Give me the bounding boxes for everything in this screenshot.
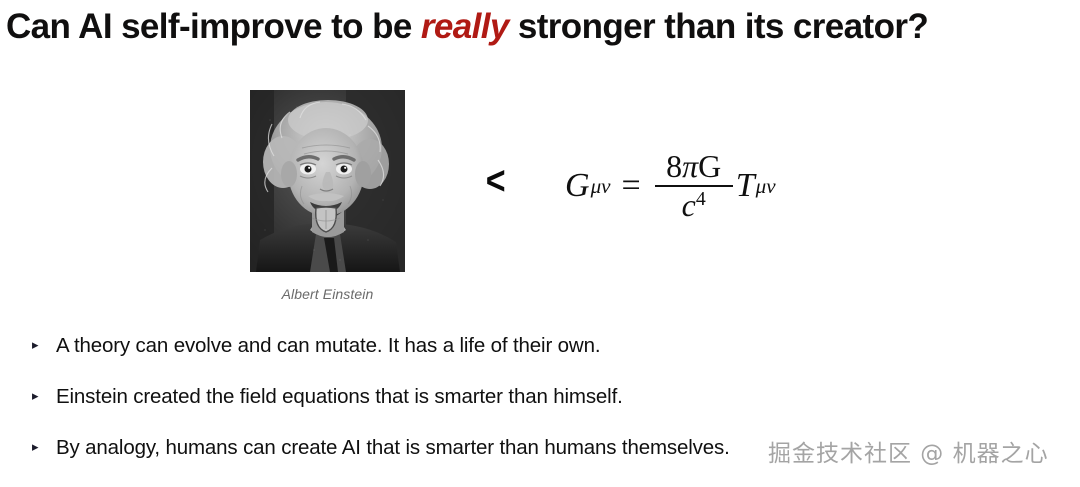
- equation-denominator: c4: [677, 187, 711, 223]
- equation-denominator-exponent: 4: [696, 189, 706, 210]
- less-than-symbol: <: [486, 158, 506, 204]
- einstein-portrait-image: [250, 90, 405, 272]
- equation-numerator: 8πG: [661, 150, 726, 185]
- equation-denominator-symbol: c: [682, 188, 696, 223]
- list-item: ▸ A theory can evolve and can mutate. It…: [32, 334, 1032, 385]
- equation-fraction: 8πG c4: [655, 150, 733, 222]
- list-item-text: A theory can evolve and can mutate. It h…: [56, 334, 600, 358]
- einstein-figure: Albert Einstein: [250, 90, 405, 302]
- page-title: Can AI self-improve to be really stronge…: [6, 4, 1076, 50]
- equation-left-subscript: μν: [591, 174, 611, 199]
- equation-left-symbol: G: [565, 167, 590, 205]
- list-item: ▸ Einstein created the field equations t…: [32, 385, 1032, 436]
- equation-numerator-constant: G: [698, 149, 721, 184]
- watermark: 掘金技术社区 @ 机器之心: [768, 434, 1049, 468]
- list-item-text: By analogy, humans can create AI that is…: [56, 436, 730, 460]
- page-title-part-2: stronger than its creator?: [509, 7, 928, 46]
- list-item-text: Einstein created the field equations tha…: [56, 385, 623, 409]
- equation-right-subscript: μν: [756, 174, 776, 199]
- equation-numerator-coefficient: 8: [666, 149, 682, 184]
- page-title-part-1: Can AI self-improve to be: [6, 7, 421, 46]
- einstein-field-equation: Gμν = 8πG c4 Tμν: [565, 150, 776, 222]
- triangle-bullet-icon: ▸: [32, 389, 56, 402]
- page-title-emphasis: really: [421, 7, 509, 46]
- triangle-bullet-icon: ▸: [32, 440, 56, 453]
- equation-numerator-pi: π: [682, 149, 698, 184]
- equation-right-symbol: T: [736, 167, 755, 205]
- equation-relation: =: [622, 167, 641, 205]
- triangle-bullet-icon: ▸: [32, 338, 56, 351]
- figure-caption: Albert Einstein: [250, 286, 405, 302]
